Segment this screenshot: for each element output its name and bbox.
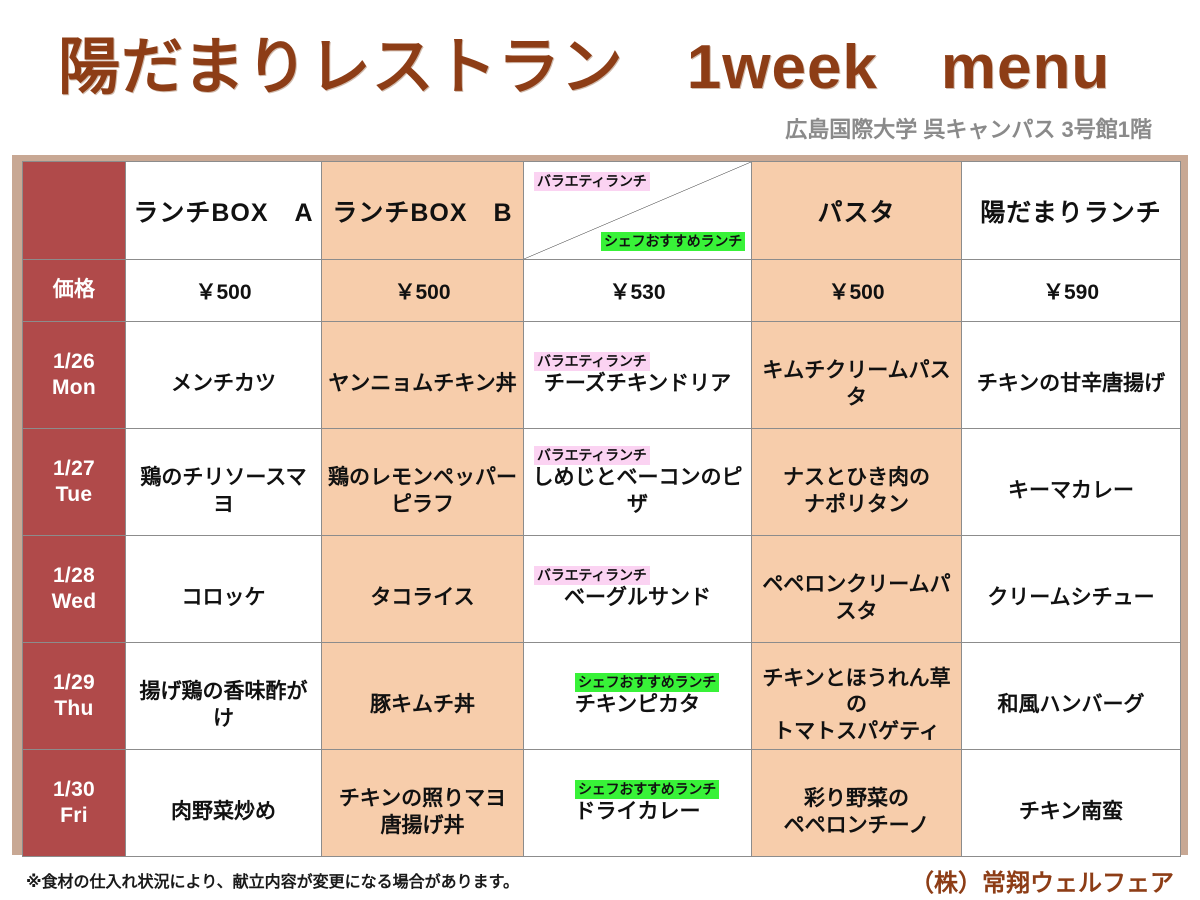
dish-name: チキンとほうれん草の トマトスパゲティ [756,666,957,745]
dish-name: コロッケ [182,585,266,611]
badge-slot [756,767,957,785]
dish-name: ヤンニョムチキン丼 [328,371,516,397]
dish-name: チーズチキンドリア [544,371,731,397]
menu-cell-stack: バラエティランチしめじとベーコンのピザ [528,429,747,535]
table-row: 1/26Monメンチカツヤンニョムチキン丼バラエティランチチーズチキンドリアキム… [23,322,1181,429]
menu-cell-boxA: 鶏のチリソースマヨ [126,429,322,536]
dish-name: キーマカレー [1008,478,1134,504]
table-row: 1/29Thu揚げ鶏の香味酢がけ豚キムチ丼シェフおすすめランチチキンピカタチキン… [23,643,1181,750]
badge-slot: シェフおすすめランチ [528,780,747,798]
menu-cell-stack: 揚げ鶏の香味酢がけ [130,643,317,749]
menu-cell-stack: チキンの甘辛唐揚げ [966,322,1176,428]
badge-slot [326,446,519,464]
menu-badge-variety: バラエティランチ [534,566,650,585]
menu-cell-pasta: ペペロンクリームパスタ [752,536,962,643]
badge-slot [130,660,317,678]
header-cell-pasta: パスタ [752,162,962,260]
page-title: 陽だまりレストラン 1week menu [58,16,1110,106]
company-name: （株）常翔ウェルフェア [910,863,1174,898]
day-weekday: Wed [52,590,97,613]
dish-name: ドライカレー [575,799,701,825]
weekly-menu-table: ランチBOX AランチBOX Bバラエティランチシェフおすすめランチパスタ陽だま… [22,161,1181,857]
badge-slot: バラエティランチ [528,352,747,370]
dish-name: 豚キムチ丼 [370,692,475,718]
menu-cell-boxB: タコライス [322,536,524,643]
dish-name: しめじとベーコンのピザ [528,465,747,518]
badge-slot [130,566,317,584]
dish-name: チキンの照りマヨ 唐揚げ丼 [339,786,506,839]
menu-cell-stack: メンチカツ [130,322,317,428]
day-cell-tue: 1/27Tue [23,429,126,536]
menu-cell-stack: 豚キムチ丼 [326,643,519,749]
menu-cell-stack: チキン南蛮 [966,750,1176,856]
menu-cell-variety: バラエティランチベーグルサンド [524,536,752,643]
badge-slot [130,352,317,370]
price-cell-pasta: ￥500 [752,260,962,322]
day-date: 1/26 [53,350,95,373]
dish-name: チキン南蛮 [1019,799,1123,825]
menu-poster: 陽だまりレストラン 1week menu 広島国際大学 呉キャンパス 3号館1階… [0,0,1200,900]
menu-cell-stack: チキンの照りマヨ 唐揚げ丼 [326,750,519,856]
menu-cell-hidamari: 和風ハンバーグ [962,643,1181,750]
day-date: 1/27 [53,457,95,480]
dish-name: ベーグルサンド [564,585,711,611]
menu-badge-chef: シェフおすすめランチ [575,780,719,799]
day-cell-mon: 1/26Mon [23,322,126,429]
badge-slot: シェフおすすめランチ [528,673,747,691]
day-weekday: Fri [60,804,88,827]
menu-cell-stack: キーマカレー [966,429,1176,535]
badge-slot [756,647,957,665]
location-subtitle: 広島国際大学 呉キャンパス 3号館1階 [785,112,1152,144]
menu-cell-hidamari: チキンの甘辛唐揚げ [962,322,1181,429]
day-weekday: Thu [54,697,93,720]
menu-cell-stack: ヤンニョムチキン丼 [326,322,519,428]
dish-name: 鶏のレモンペッパー ピラフ [328,465,517,518]
day-date: 1/29 [53,671,95,694]
menu-cell-stack: シェフおすすめランチチキンピカタ [528,643,747,749]
menu-cell-stack: バラエティランチチーズチキンドリア [528,322,747,428]
menu-cell-hidamari: クリームシチュー [962,536,1181,643]
menu-cell-pasta: 彩り野菜の ペペロンチーノ [752,750,962,857]
table-row: 1/27Tue鶏のチリソースマヨ鶏のレモンペッパー ピラフバラエティランチしめじ… [23,429,1181,536]
menu-cell-pasta: チキンとほうれん草の トマトスパゲティ [752,643,962,750]
day-date: 1/28 [53,564,95,587]
badge-slot [326,352,519,370]
menu-cell-stack: コロッケ [130,536,317,642]
badge-slot: バラエティランチ [528,446,747,464]
menu-cell-stack: バラエティランチベーグルサンド [528,536,747,642]
table-header-row: ランチBOX AランチBOX Bバラエティランチシェフおすすめランチパスタ陽だま… [23,162,1181,260]
badge-slot [966,459,1176,477]
day-cell-thu: 1/29Thu [23,643,126,750]
menu-cell-stack: 肉野菜炒め [130,750,317,856]
dish-name: キムチクリームパスタ [756,358,957,411]
menu-cell-boxA: 揚げ鶏の香味酢がけ [126,643,322,750]
menu-cell-stack: 鶏のチリソースマヨ [130,429,317,535]
badge-slot [756,446,957,464]
header-corner-cell [23,162,126,260]
badge-slot [326,767,519,785]
price-cell-variety: ￥530 [524,260,752,322]
table-row: 1/28Wedコロッケタコライスバラエティランチベーグルサンドペペロンクリームパ… [23,536,1181,643]
menu-cell-boxA: コロッケ [126,536,322,643]
menu-cell-hidamari: キーマカレー [962,429,1181,536]
dish-name: チキンの甘辛唐揚げ [977,371,1165,397]
price-cell-boxB: ￥500 [322,260,524,322]
dish-name: タコライス [370,585,474,611]
menu-cell-stack: 彩り野菜の ペペロンチーノ [756,750,957,856]
price-row-label: 価格 [23,260,126,322]
menu-cell-stack: ナスとひき肉の ナポリタン [756,429,957,535]
dish-name: ナスとひき肉の ナポリタン [783,465,930,518]
dish-name: 揚げ鶏の香味酢がけ [130,679,317,732]
dish-name: 和風ハンバーグ [998,692,1145,718]
menu-cell-stack: シェフおすすめランチドライカレー [528,750,747,856]
menu-cell-boxB: ヤンニョムチキン丼 [322,322,524,429]
dish-name: ペペロンクリームパスタ [756,572,957,625]
menu-cell-stack: 和風ハンバーグ [966,643,1176,749]
badge-slot [966,673,1176,691]
badge-slot [130,780,317,798]
menu-cell-variety: バラエティランチしめじとベーコンのピザ [524,429,752,536]
badge-slot [756,339,957,357]
menu-cell-pasta: ナスとひき肉の ナポリタン [752,429,962,536]
dish-name: 肉野菜炒め [171,799,276,825]
dish-name: 鶏のチリソースマヨ [130,465,317,518]
menu-badge-variety: バラエティランチ [534,446,650,465]
split-header-inner: バラエティランチシェフおすすめランチ [524,162,751,259]
day-cell-wed: 1/28Wed [23,536,126,643]
badge-slot [966,566,1176,584]
menu-cell-hidamari: チキン南蛮 [962,750,1181,857]
menu-cell-variety: シェフおすすめランチチキンピカタ [524,643,752,750]
badge-slot [130,446,317,464]
dish-name: 彩り野菜の ペペロンチーノ [784,786,930,839]
menu-cell-stack: タコライス [326,536,519,642]
menu-cell-boxA: メンチカツ [126,322,322,429]
price-cell-boxA: ￥500 [126,260,322,322]
menu-table-frame: ランチBOX AランチBOX Bバラエティランチシェフおすすめランチパスタ陽だま… [12,155,1188,855]
menu-cell-boxB: 豚キムチ丼 [322,643,524,750]
menu-cell-stack: クリームシチュー [966,536,1176,642]
menu-cell-stack: チキンとほうれん草の トマトスパゲティ [756,643,957,749]
menu-cell-variety: バラエティランチチーズチキンドリア [524,322,752,429]
poster-footer: ※食材の仕入れ状況により、献立内容が変更になる場合があります。 （株）常翔ウェル… [0,862,1200,900]
menu-cell-variety: シェフおすすめランチドライカレー [524,750,752,857]
menu-badge-chef: シェフおすすめランチ [575,673,719,692]
badge-slot [966,352,1176,370]
dish-name: クリームシチュー [987,585,1154,611]
menu-badge-variety: バラエティランチ [534,352,650,371]
dish-name: メンチカツ [171,371,276,397]
badge-slot [966,780,1176,798]
badge-slot [326,673,519,691]
menu-cell-stack: ペペロンクリームパスタ [756,536,957,642]
menu-cell-pasta: キムチクリームパスタ [752,322,962,429]
header-cell-boxB: ランチBOX B [322,162,524,260]
header-badge-variety: バラエティランチ [534,172,650,191]
header-cell-variety-split: バラエティランチシェフおすすめランチ [524,162,752,260]
badge-slot [326,566,519,584]
badge-slot: バラエティランチ [528,566,747,584]
menu-cell-boxB: チキンの照りマヨ 唐揚げ丼 [322,750,524,857]
menu-cell-boxA: 肉野菜炒め [126,750,322,857]
header-cell-boxA: ランチBOX A [126,162,322,260]
day-date: 1/30 [53,778,95,801]
menu-cell-stack: キムチクリームパスタ [756,322,957,428]
price-cell-hidamari: ￥590 [962,260,1181,322]
table-row: 1/30Fri肉野菜炒めチキンの照りマヨ 唐揚げ丼シェフおすすめランチドライカレ… [23,750,1181,857]
header-badge-chef: シェフおすすめランチ [601,232,745,251]
badge-slot [756,553,957,571]
price-row: 価格￥500￥500￥530￥500￥590 [23,260,1181,322]
disclaimer-note: ※食材の仕入れ状況により、献立内容が変更になる場合があります。 [26,868,519,892]
day-cell-fri: 1/30Fri [23,750,126,857]
poster-header: 陽だまりレストラン 1week menu 広島国際大学 呉キャンパス 3号館1階 [0,0,1200,150]
header-cell-hidamari: 陽だまりランチ [962,162,1181,260]
day-weekday: Tue [56,483,93,506]
menu-cell-boxB: 鶏のレモンペッパー ピラフ [322,429,524,536]
dish-name: チキンピカタ [575,692,700,718]
day-weekday: Mon [52,376,96,399]
menu-cell-stack: 鶏のレモンペッパー ピラフ [326,429,519,535]
